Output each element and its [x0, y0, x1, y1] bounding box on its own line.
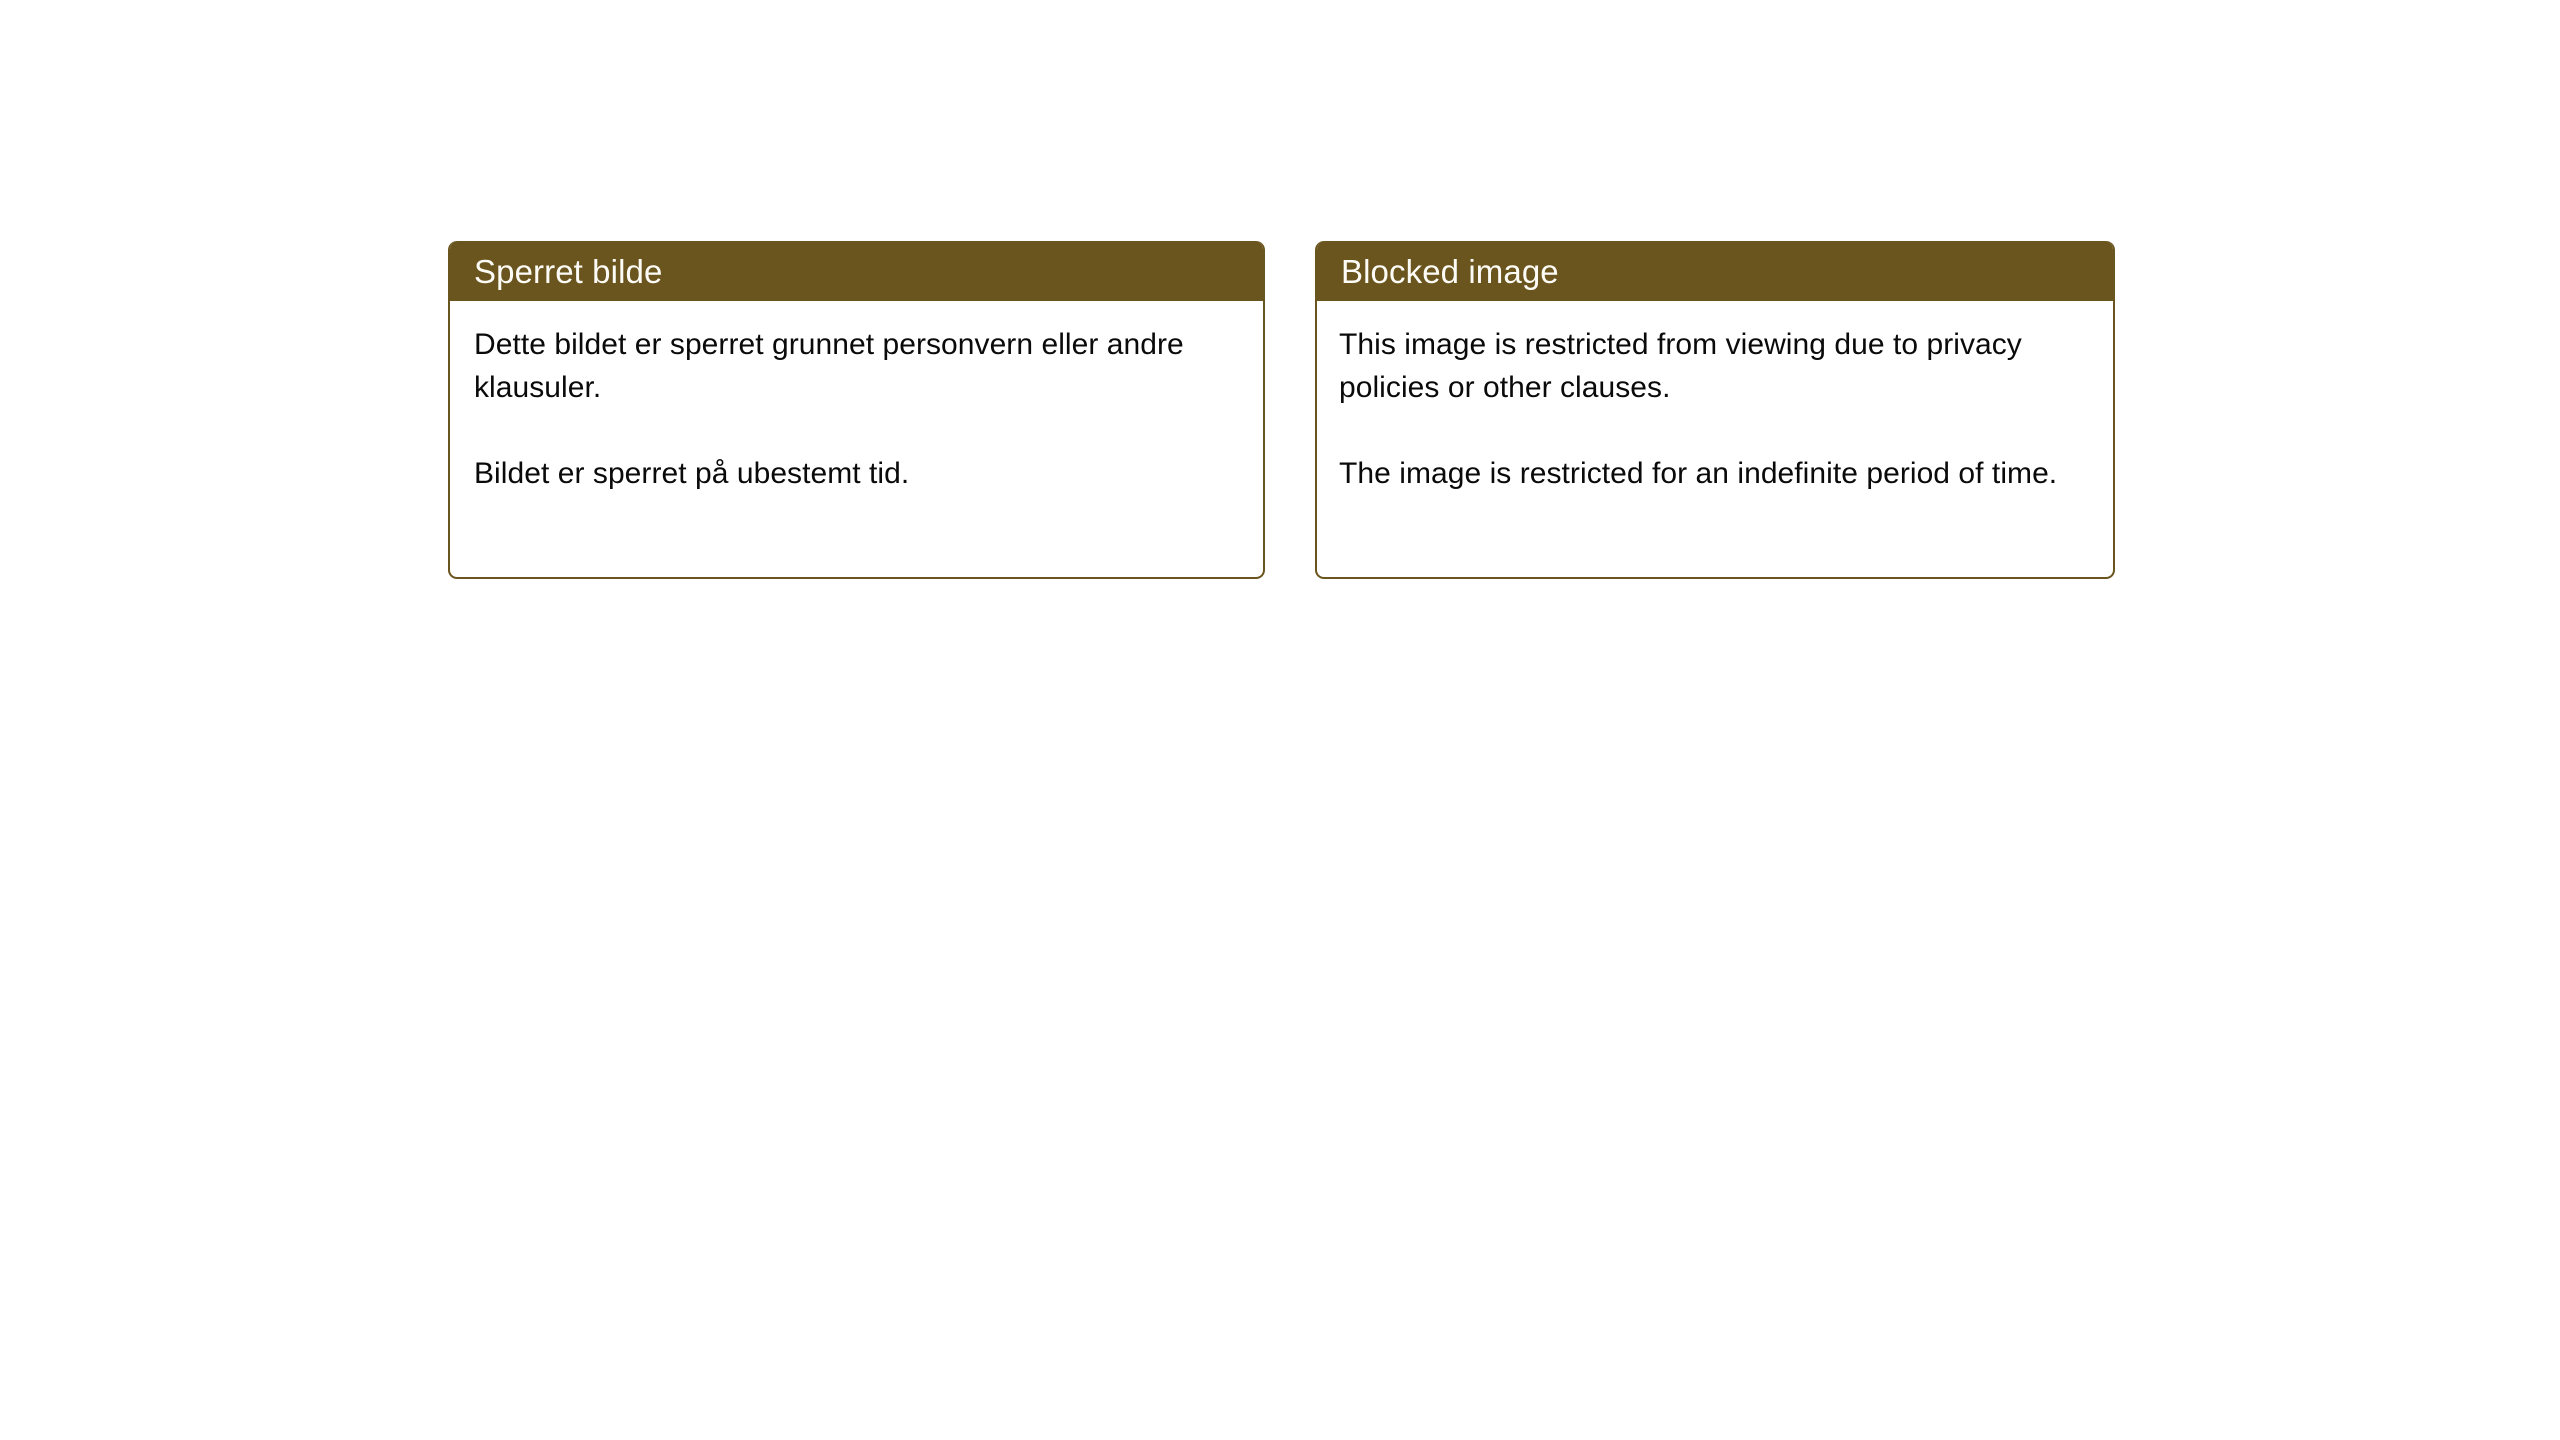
card-header-norwegian: Sperret bilde	[448, 241, 1265, 301]
page-canvas: Sperret bilde Dette bildet er sperret gr…	[0, 0, 2560, 1440]
card-body-english: This image is restricted from viewing du…	[1317, 301, 2113, 495]
card-title-norwegian: Sperret bilde	[474, 255, 662, 288]
blocked-image-notice-card-english: Blocked image This image is restricted f…	[1315, 241, 2115, 579]
card-body-norwegian: Dette bildet er sperret grunnet personve…	[450, 301, 1263, 495]
card-header-english: Blocked image	[1315, 241, 2115, 301]
blocked-image-notice-card-norwegian: Sperret bilde Dette bildet er sperret gr…	[448, 241, 1265, 579]
paragraph-spacer	[1339, 409, 2099, 452]
card-title-english: Blocked image	[1341, 255, 1559, 288]
notice-paragraph-1-norwegian: Dette bildet er sperret grunnet personve…	[474, 323, 1239, 409]
notice-paragraph-2-norwegian: Bildet er sperret på ubestemt tid.	[474, 452, 1239, 495]
notice-paragraph-2-english: The image is restricted for an indefinit…	[1339, 452, 2099, 495]
notice-paragraph-1-english: This image is restricted from viewing du…	[1339, 323, 2099, 409]
paragraph-spacer	[474, 409, 1239, 452]
